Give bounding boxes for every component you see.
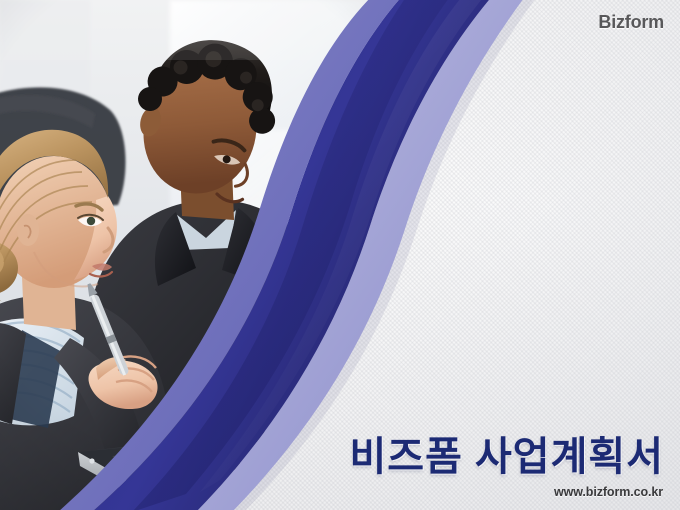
page-title: 비즈폼 사업계획서 xyxy=(349,424,664,482)
bizform-logo-text: Bizform xyxy=(598,12,664,33)
website-url: www.bizform.co.kr xyxy=(554,485,663,499)
presentation-slide: Bizform 비즈폼 사업계획서 www.bizform.co.kr xyxy=(0,0,680,510)
